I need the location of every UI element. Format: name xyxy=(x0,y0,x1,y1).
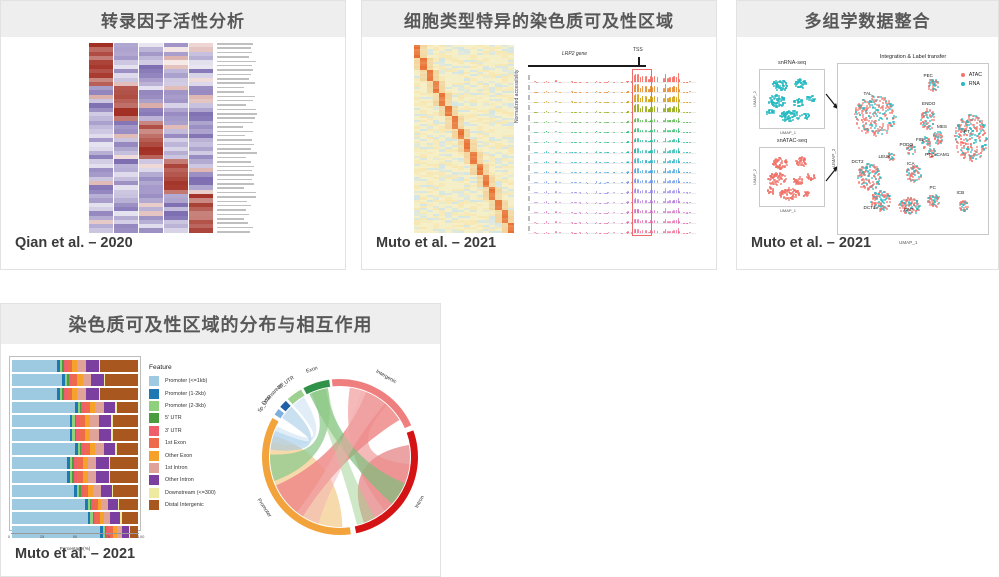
umap-point xyxy=(887,205,889,207)
umap-point xyxy=(971,147,973,149)
umap-point xyxy=(865,117,867,119)
accessibility-peak xyxy=(689,162,691,163)
accessibility-peak xyxy=(626,212,627,213)
umap-point xyxy=(865,178,867,180)
umap-point xyxy=(863,181,865,183)
tf-gene-label xyxy=(217,214,249,216)
accessibility-peak xyxy=(555,91,557,93)
accessibility-peak xyxy=(555,131,557,133)
accessibility-peak xyxy=(654,170,655,173)
accessibility-peak xyxy=(669,87,671,92)
track-scale-tick xyxy=(528,155,530,160)
umap-point xyxy=(984,132,986,134)
accessibility-peak xyxy=(689,122,691,123)
umap-point xyxy=(775,95,777,97)
umap-point xyxy=(790,189,792,191)
umap-point xyxy=(777,181,779,183)
umap-point xyxy=(937,131,939,133)
accessibility-peak xyxy=(596,202,598,203)
accessibility-peak xyxy=(613,152,615,153)
accessibility-peak xyxy=(546,131,547,132)
accessibility-peak xyxy=(665,219,667,223)
gene-label: LRP2 gene xyxy=(562,51,587,57)
tss-label: TSS xyxy=(633,47,643,53)
tf-gene-label xyxy=(217,170,252,172)
accessibility-peak xyxy=(626,162,627,163)
accessibility-peak xyxy=(596,191,598,192)
accessibility-peak xyxy=(673,129,675,132)
accessibility-peak xyxy=(657,87,658,92)
umap-cluster-label: LEUK xyxy=(879,154,891,159)
tf-gene-label xyxy=(217,187,244,189)
umap-snatac-xlabel: UMAP_1 xyxy=(780,208,796,213)
umap-point xyxy=(975,158,977,160)
umap-point xyxy=(776,99,778,101)
umap-point xyxy=(980,152,982,154)
accessibility-peak xyxy=(657,140,658,142)
umap-point xyxy=(776,89,778,91)
accessibility-peak xyxy=(665,229,667,233)
accessibility-peak xyxy=(613,232,615,233)
umap-point xyxy=(985,147,987,149)
umap-point xyxy=(930,198,932,200)
tf-gene-label xyxy=(217,174,254,176)
umap-point xyxy=(971,160,973,162)
umap-point xyxy=(924,138,926,140)
umap-point xyxy=(776,161,778,163)
accessibility-peak xyxy=(657,221,658,223)
umap-point xyxy=(971,119,973,121)
accessibility-peak xyxy=(657,201,658,203)
accessibility-peak xyxy=(534,222,536,223)
umap-point xyxy=(971,134,973,136)
umap-point xyxy=(975,139,977,141)
accessibility-track xyxy=(528,123,696,133)
accessibility-peak xyxy=(559,192,560,193)
umap-point xyxy=(805,163,807,165)
umap-point xyxy=(795,194,797,196)
umap-point xyxy=(874,107,876,109)
accessibility-peak xyxy=(534,192,536,193)
accessibility-peak xyxy=(673,86,675,93)
umap-point xyxy=(869,112,871,114)
accessibility-peak xyxy=(546,141,547,142)
umap-point xyxy=(879,100,881,102)
umap-point xyxy=(881,133,883,135)
umap-point xyxy=(882,102,884,104)
card-celltype-accessibility[interactable]: 细胞类型特异的染色质可及性区域 LRP2 gene TSS Normalized… xyxy=(361,0,717,270)
accessibility-peak xyxy=(555,211,557,213)
accessibility-peak xyxy=(534,122,536,123)
tf-gene-label xyxy=(217,122,253,124)
accessibility-peak xyxy=(654,200,655,203)
accessibility-peak xyxy=(555,231,557,233)
accessibility-peak xyxy=(669,221,671,223)
umap-snrna-ylabel: UMAP_2 xyxy=(752,91,757,107)
accessibility-peak xyxy=(555,141,557,143)
tf-heatmap-column xyxy=(189,43,213,233)
tf-gene-label xyxy=(217,131,253,133)
umap-legend: ATACRNA xyxy=(961,72,982,90)
accessibility-peak xyxy=(628,202,629,203)
track-scale-tick xyxy=(528,145,530,150)
tf-gene-label xyxy=(217,161,251,163)
umap-point xyxy=(928,125,930,127)
umap-point xyxy=(880,177,882,179)
umap-point xyxy=(876,202,878,204)
tf-gene-label xyxy=(217,104,246,106)
card-title-celltype-accessibility: 细胞类型特异的染色质可及性区域 xyxy=(362,1,716,37)
celltype-heatmap-cell xyxy=(508,231,514,233)
tf-gene-label xyxy=(217,43,253,45)
track-scale-tick xyxy=(528,186,530,191)
track-scale-tick xyxy=(528,175,530,180)
umap-point xyxy=(878,180,880,182)
accessibility-peak xyxy=(613,122,615,123)
umap-legend-item[interactable]: RNA xyxy=(961,81,982,87)
accessibility-peak xyxy=(626,152,627,153)
umap-point xyxy=(772,190,774,192)
track-scale-tick xyxy=(528,105,530,110)
umap-point xyxy=(780,183,782,185)
accessibility-peak xyxy=(608,182,610,183)
accessibility-peak xyxy=(669,190,671,192)
tf-heatmap-cell xyxy=(114,228,138,232)
tf-gene-label xyxy=(217,100,253,102)
umap-point xyxy=(805,193,807,195)
umap-point xyxy=(784,88,786,90)
accessibility-peak xyxy=(555,221,557,223)
accessibility-peak xyxy=(654,149,655,152)
umap-point xyxy=(786,85,788,87)
tf-gene-label xyxy=(217,74,251,76)
accessibility-peak xyxy=(676,200,677,203)
accessibility-peak xyxy=(663,98,664,103)
accessibility-peak xyxy=(559,172,560,173)
accessibility-peak xyxy=(657,107,658,112)
umap-cluster-label: ICA xyxy=(907,161,915,166)
accessibility-peak xyxy=(534,132,536,133)
accessibility-peak xyxy=(657,150,658,152)
umap-point xyxy=(940,132,942,134)
accessibility-peak xyxy=(596,181,598,182)
umap-point xyxy=(807,116,809,118)
accessibility-peak xyxy=(654,190,655,193)
umap-point xyxy=(972,157,974,159)
accessibility-peak xyxy=(657,97,658,102)
umap-point xyxy=(781,89,783,91)
umap-point xyxy=(907,152,909,154)
umap-point xyxy=(973,142,975,144)
umap-point xyxy=(865,112,867,114)
umap-point xyxy=(865,132,867,134)
card-title-multiomics: 多组学数据整合 xyxy=(737,1,998,37)
umap-point xyxy=(902,202,904,204)
umap-point xyxy=(972,130,974,132)
accessibility-peak xyxy=(669,77,671,82)
umap-point xyxy=(793,181,795,183)
accessibility-peak xyxy=(676,180,677,183)
accessibility-peak xyxy=(627,101,629,103)
umap-point xyxy=(858,127,860,129)
accessibility-peak xyxy=(579,132,581,133)
umap-point xyxy=(875,135,877,137)
accessibility-peak xyxy=(627,171,629,173)
card-body-multiomics: Integration & Label transfer snRNA-seq U… xyxy=(737,37,998,269)
umap-point xyxy=(780,158,782,160)
accessibility-peak xyxy=(663,130,664,132)
umap-point xyxy=(775,158,777,160)
accessibility-peak xyxy=(627,191,629,193)
umap-point xyxy=(883,191,885,193)
umap-point xyxy=(884,112,886,114)
accessibility-peak xyxy=(673,96,675,103)
accessibility-peak xyxy=(627,151,629,153)
umap-point xyxy=(785,160,787,162)
umap-point xyxy=(927,122,929,124)
tf-gene-label xyxy=(217,69,253,71)
accessibility-peak xyxy=(579,82,581,83)
umap-point xyxy=(893,123,895,125)
umap-point xyxy=(857,177,859,179)
tf-gene-label xyxy=(217,222,248,224)
umap-legend-item[interactable]: ATAC xyxy=(961,72,982,78)
accessibility-peak xyxy=(546,201,547,202)
accessibility-peak xyxy=(546,221,547,222)
accessibility-peak xyxy=(546,121,547,122)
accessibility-peak xyxy=(546,81,547,82)
accessibility-peak xyxy=(657,170,658,172)
umap-point xyxy=(960,154,962,156)
umap-point xyxy=(937,203,939,205)
umap-point xyxy=(941,135,943,137)
accessibility-peak xyxy=(665,188,667,192)
accessibility-peak xyxy=(676,120,677,123)
tf-gene-label xyxy=(217,157,246,159)
umap-point xyxy=(886,201,888,203)
umap-point xyxy=(935,89,937,91)
umap-point xyxy=(907,174,909,176)
umap-point xyxy=(775,161,777,163)
umap-point xyxy=(770,176,772,178)
accessibility-peak xyxy=(673,149,675,152)
accessibility-peak xyxy=(689,182,691,183)
accessibility-peak xyxy=(534,81,536,82)
umap-panel-snatac-title: snATAC-seq xyxy=(759,138,825,144)
accessibility-peak xyxy=(534,162,536,163)
accessibility-peak xyxy=(613,162,615,163)
umap-cluster-label: DCT1 xyxy=(864,205,876,210)
accessibility-peak xyxy=(579,122,581,123)
umap-point xyxy=(782,193,784,195)
accessibility-peak xyxy=(689,81,691,82)
umap-cluster-label: PT xyxy=(964,129,970,134)
umap-legend-label: ATAC xyxy=(969,72,982,78)
umap-point xyxy=(869,182,871,184)
tf-gene-label xyxy=(217,148,251,150)
accessibility-peak xyxy=(673,220,675,223)
card-multiomics-integration[interactable]: 多组学数据整合 Integration & Label transfer snR… xyxy=(736,0,999,270)
accessibility-peak xyxy=(534,182,536,183)
umap-point xyxy=(936,200,938,202)
umap-point xyxy=(810,177,812,179)
accessibility-peak xyxy=(559,142,560,143)
umap-point xyxy=(875,113,877,115)
accessibility-track xyxy=(528,214,696,224)
accessibility-peak xyxy=(627,81,629,83)
accessibility-peak xyxy=(689,102,691,103)
umap-point xyxy=(923,112,925,114)
accessibility-tracks xyxy=(528,73,696,234)
accessibility-track xyxy=(528,174,696,184)
accessibility-peak xyxy=(657,77,658,82)
accessibility-peak xyxy=(689,222,691,223)
umap-point xyxy=(912,179,914,181)
umap-point xyxy=(956,141,958,143)
umap-point xyxy=(864,171,866,173)
accessibility-peak xyxy=(669,120,671,122)
umap-point xyxy=(933,119,935,121)
accessibility-track xyxy=(528,73,696,83)
accessibility-peak xyxy=(559,82,560,83)
umap-point xyxy=(875,178,877,180)
umap-point xyxy=(889,112,891,114)
accessibility-track xyxy=(528,113,696,123)
umap-point xyxy=(982,134,984,136)
umap-point xyxy=(882,109,884,111)
umap-point xyxy=(889,108,891,110)
accessibility-peak xyxy=(673,119,675,122)
umap-point xyxy=(864,119,866,121)
umap-cluster-label: PT_VCAM1 xyxy=(925,152,949,157)
accessibility-peak xyxy=(596,171,598,172)
track-scale-tick xyxy=(528,95,530,100)
umap-point xyxy=(929,141,931,143)
accessibility-peak xyxy=(689,152,691,153)
accessibility-peak xyxy=(628,232,629,233)
accessibility-peak xyxy=(627,181,629,183)
track-scale-tick xyxy=(528,75,530,80)
accessibility-track xyxy=(528,143,696,153)
umap-point xyxy=(788,199,790,201)
umap-point xyxy=(781,105,783,107)
accessibility-peak xyxy=(689,112,691,113)
umap-point xyxy=(773,98,775,100)
umap-point xyxy=(931,82,933,84)
track-scale-tick xyxy=(528,206,530,211)
umap-point xyxy=(868,120,870,122)
umap-point xyxy=(914,146,916,148)
umap-point xyxy=(773,176,775,178)
umap-point xyxy=(963,157,965,159)
umap-point xyxy=(810,96,812,98)
track-y-axis-label: Normalized accessibility xyxy=(514,70,520,123)
umap-point xyxy=(771,112,773,114)
umap-point xyxy=(781,160,783,162)
umap-point xyxy=(863,126,865,128)
accessibility-peak xyxy=(613,132,615,133)
accessibility-peak xyxy=(678,212,680,213)
tf-gene-label xyxy=(217,56,249,58)
umap-point xyxy=(795,196,797,198)
umap-point xyxy=(918,206,920,208)
accessibility-peak xyxy=(613,92,615,93)
umap-point xyxy=(935,142,937,144)
accessibility-peak xyxy=(579,162,581,163)
umap-point xyxy=(886,195,888,197)
accessibility-peak xyxy=(559,152,560,153)
accessibility-peak xyxy=(626,232,627,233)
tf-gene-label xyxy=(217,65,252,67)
umap-point xyxy=(926,128,928,130)
umap-point xyxy=(808,99,810,101)
umap-point xyxy=(867,188,869,190)
umap-cluster-label: PODO xyxy=(900,142,914,147)
accessibility-track xyxy=(528,194,696,204)
accessibility-peak xyxy=(628,222,629,223)
accessibility-peak xyxy=(546,181,547,182)
umap-point xyxy=(772,101,774,103)
accessibility-peak xyxy=(534,212,536,213)
accessibility-track xyxy=(528,93,696,103)
accessibility-peak xyxy=(678,101,680,103)
accessibility-peak xyxy=(665,208,667,212)
umap-point xyxy=(965,143,967,145)
umap-point xyxy=(880,117,882,119)
umap-point xyxy=(976,149,978,151)
slide-board: 转录因子活性分析 Qian et al. – 2020 细胞类型特异的染色质可及… xyxy=(0,0,999,577)
accessibility-peak xyxy=(571,91,573,92)
umap-point xyxy=(980,155,982,157)
accessibility-peak xyxy=(555,111,557,113)
accessibility-peak xyxy=(667,108,668,112)
accessibility-peak xyxy=(669,130,671,132)
umap-point xyxy=(870,127,872,129)
umap-point xyxy=(875,125,877,127)
accessibility-peak xyxy=(663,88,664,93)
card-tf-activity[interactable]: 转录因子活性分析 Qian et al. – 2020 xyxy=(0,0,346,270)
umap-point xyxy=(913,203,915,205)
accessibility-peak xyxy=(613,142,615,143)
accessibility-peak xyxy=(689,232,691,233)
tf-gene-label xyxy=(217,52,252,54)
umap-point xyxy=(806,195,808,197)
umap-point xyxy=(865,122,867,124)
umap-point xyxy=(983,149,985,151)
umap-point xyxy=(956,147,958,149)
gene-body-line xyxy=(528,65,636,67)
accessibility-peak xyxy=(676,190,677,193)
umap-point xyxy=(972,124,974,126)
umap-point xyxy=(876,115,878,117)
tf-gene-label xyxy=(217,47,251,49)
umap-point xyxy=(880,96,882,98)
umap-point xyxy=(969,157,971,159)
accessibility-peak xyxy=(559,222,560,223)
accessibility-peak xyxy=(654,230,655,233)
umap-point xyxy=(871,186,873,188)
accessibility-peak xyxy=(657,191,658,193)
accessibility-peak xyxy=(657,180,658,182)
umap-point xyxy=(982,129,984,131)
accessibility-peak xyxy=(627,161,629,163)
umap-point xyxy=(928,85,930,87)
umap-point xyxy=(927,111,929,113)
umap-point xyxy=(781,112,783,114)
accessibility-peak xyxy=(579,102,581,103)
accessibility-peak xyxy=(673,190,675,193)
accessibility-peak xyxy=(571,112,573,113)
